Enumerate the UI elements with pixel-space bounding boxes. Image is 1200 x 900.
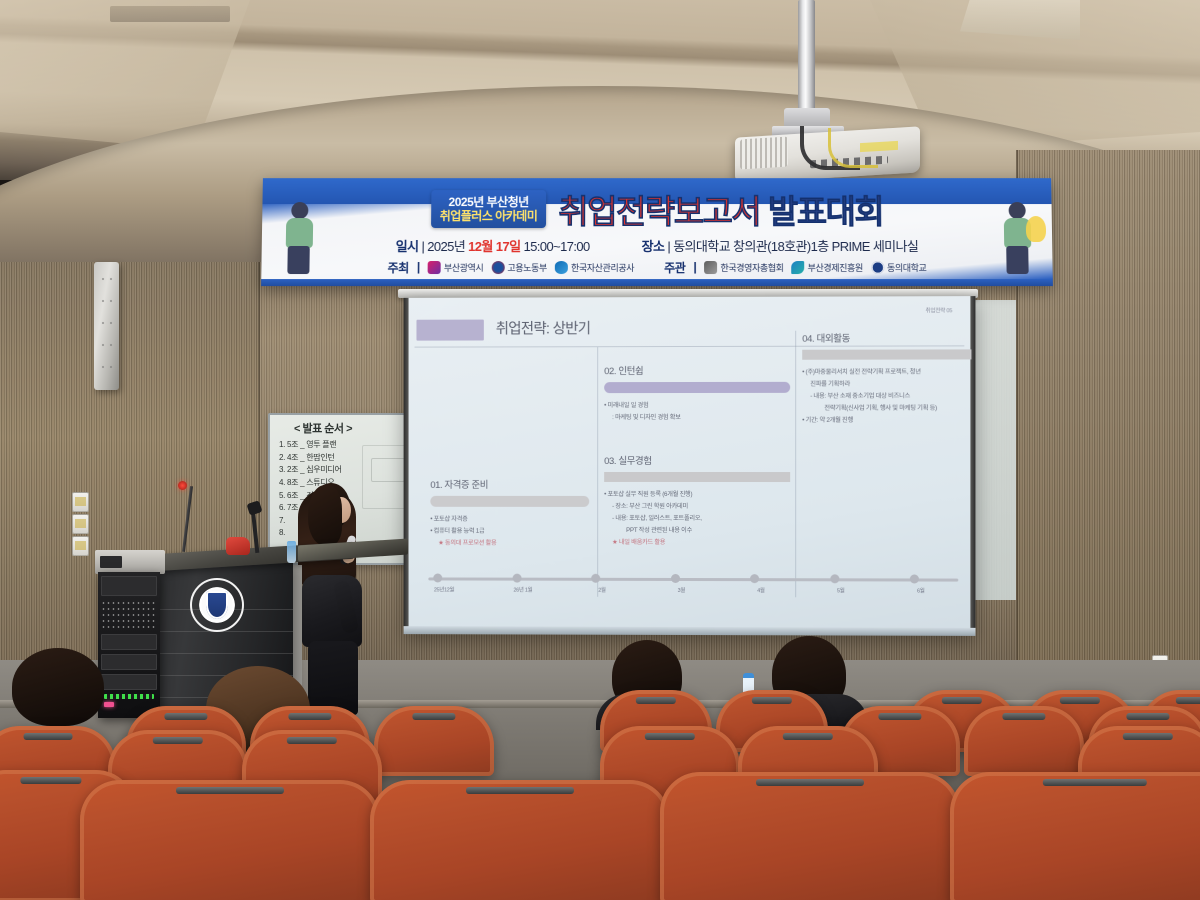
banner-datetime-year: 2025년 [427, 238, 465, 253]
section-line-star: ★ 동의대 프로모션 활용 [430, 538, 589, 550]
banner-organizer-sep: | [693, 260, 696, 274]
section-accent-bar [802, 349, 971, 359]
banner-badge-line1: 2025년 부산청년 [440, 195, 538, 209]
organizer-dongeui: 동의대학교 [871, 261, 927, 274]
banner-venue-value: 동의대학교 창의관(18호관)1층 PRIME 세미나실 [673, 238, 918, 253]
av-unit-3[interactable] [101, 654, 157, 670]
banner-datetime-label: 일시 [396, 238, 419, 253]
wall-speaker-icon [94, 262, 119, 390]
presenter-hair-front [308, 485, 342, 545]
whiteboard-item: 3. 2조 _ 심우미디어 [279, 464, 342, 477]
timeline-point [910, 574, 919, 583]
section-accent-bar [430, 496, 589, 507]
banner-venue-sep: | [667, 238, 670, 253]
seat[interactable] [374, 706, 494, 776]
organizer-label: 동의대학교 [887, 261, 927, 274]
banner-badge: 2025년 부산청년 취업플러스 아카데미 [431, 190, 547, 228]
seat[interactable] [950, 772, 1200, 900]
timeline-label: 3월 [678, 586, 685, 594]
av-mixer[interactable] [101, 600, 157, 630]
banner-organizer-group: 주관 | 한국경영자총협회 부산경제진흥원 동의대학교 [664, 259, 926, 276]
organizer-label: 부산경제진흥원 [808, 261, 863, 274]
section-line: - 장소: 부산 그린 학원 아카데미 [604, 501, 790, 513]
section-body: 포토샵 자격증 컴퓨터 활용 능력 1급 ★ 동의대 프로모션 활용 [430, 514, 589, 550]
banner-datetime-sep: | [421, 238, 424, 253]
bepa-logo-icon [792, 261, 805, 274]
dongeui-logo-icon [871, 261, 884, 274]
molab-logo-icon [491, 261, 504, 274]
banner-main-title: 취업전략보고서 발표대회 [558, 185, 883, 233]
slide-content: 취업전략 05 취업전략: 상반기 01. 자격증 준비 포토샵 자격증 컴퓨터… [409, 300, 971, 628]
sponsor-kamco: 한국자산관리공사 [555, 261, 634, 274]
section-line: (주)마중물리서치 실전 전략기획 프로젝트, 청년 [802, 369, 920, 376]
timeline-point [512, 574, 521, 583]
section-accent-bar [604, 382, 790, 393]
section-heading: 03. 실무경험 [604, 453, 790, 467]
banner-host-group: 주최 | 부산광역시 고용노동부 한국자산관리공사 [387, 259, 634, 276]
timeline-label: 25년12월 [434, 585, 454, 593]
projector-mount-pole [798, 0, 815, 118]
slide-page-mark: 취업전략 05 [925, 306, 952, 314]
section-line-star: ★ 내일 배움카드 활용 [604, 537, 790, 549]
section-line: PPT 작성 관련된 내용 이수 [604, 525, 790, 537]
timeline-point [434, 573, 443, 582]
banner-title-navy: 발표대회 [768, 193, 884, 230]
av-equipment-rack [98, 572, 160, 718]
projector-vent [740, 137, 788, 170]
sponsor-molab: 고용노동부 [491, 261, 547, 274]
banner-datetime: 일시 | 2025년 12월 17일 15:00~17:00 [396, 235, 590, 254]
banner-datetime-date: 12월 17일 [468, 238, 520, 253]
projector-cable-yellow [828, 128, 878, 168]
section-line: 기간: 약 2개월 진행 [802, 417, 853, 424]
sponsor-label: 한국자산관리공사 [571, 261, 634, 274]
wall-switch-2[interactable] [72, 514, 89, 534]
av-led-strip [104, 694, 154, 699]
timeline-point [830, 574, 839, 583]
banner-datetime-time: 15:00~17:00 [523, 238, 589, 253]
seat[interactable] [964, 706, 1084, 776]
slide-section-01: 01. 자격증 준비 포토샵 자격증 컴퓨터 활용 능력 1급 ★ 동의대 프로… [430, 477, 589, 550]
organizer-bepa: 부산경제진흥원 [792, 261, 863, 274]
banner-badge-line2: 취업플러스 아카데미 [440, 209, 538, 223]
wall-switch-1[interactable] [72, 492, 89, 512]
banner-bottom-band [261, 279, 1053, 286]
sponsor-label: 부산광역시 [444, 261, 484, 274]
section-body: (주)마중물리서치 실전 전략기획 프로젝트, 청년 진파를 기획하라 - 내용… [802, 366, 971, 427]
timeline-axis [428, 577, 958, 581]
crest-shield-icon [206, 591, 228, 619]
section-line: 포토샵 자격증 [430, 516, 467, 523]
section-heading: 02. 인턴쉽 [604, 363, 790, 377]
seat[interactable] [660, 772, 960, 900]
seat[interactable] [370, 780, 670, 900]
section-line: : 마케팅 및 디자인 경험 확보 [604, 412, 790, 424]
timeline-label: 5월 [837, 586, 845, 594]
av-unit-2[interactable] [101, 634, 157, 650]
presenter [296, 483, 380, 713]
podium-object-red [226, 537, 250, 555]
organizer-kef: 한국경영자총협회 [704, 261, 783, 274]
organizer-label: 한국경영자총협회 [720, 261, 783, 274]
av-unit-1[interactable] [101, 576, 157, 596]
university-crest-podium [190, 578, 244, 632]
av-top-unit [95, 550, 165, 574]
auditorium-scene: 2025년 부산청년 취업플러스 아카데미 취업전략보고서 발표대회 일시 | … [0, 0, 1200, 900]
audience-head [12, 648, 104, 726]
projection-screen: 취업전략 05 취업전략: 상반기 01. 자격증 준비 포토샵 자격증 컴퓨터… [404, 296, 976, 636]
event-banner: 2025년 부산청년 취업플러스 아카데미 취업전략보고서 발표대회 일시 | … [261, 178, 1053, 286]
section-line: 전략기획(신사업 기획, 행사 및 마케팅 기획 등) [802, 403, 971, 415]
slide-column-divider-2 [795, 331, 796, 598]
section-line: 진파를 기획하라 [802, 379, 971, 391]
section-accent-bar [604, 472, 790, 482]
seat[interactable] [80, 780, 380, 900]
section-line: 컴퓨터 활용 능력 1급 [430, 528, 484, 535]
banner-info-row: 일시 | 2025년 12월 17일 15:00~17:00 장소 | 동의대학… [262, 234, 1053, 256]
busan-city-logo-icon [428, 261, 441, 274]
banner-title-row: 2025년 부산청년 취업플러스 아카데미 취업전략보고서 발표대회 [262, 186, 1052, 232]
whiteboard-title: < 발표 순서 > [294, 420, 352, 436]
wall-switch-3[interactable] [72, 536, 89, 556]
banner-title-red: 취업전략보고서 [558, 193, 760, 230]
slide-section-03: 03. 실무경험 포토샵 실무 직원 등록 (6개월 진행) - 장소: 부산 … [604, 453, 790, 550]
av-unit-4[interactable] [101, 674, 157, 690]
presenter-legs [308, 641, 358, 715]
slide-title: 취업전략: 상반기 [496, 317, 591, 338]
ceiling-vent [110, 6, 230, 22]
section-heading: 04. 대외활동 [802, 330, 971, 344]
mic-indicator-light-icon [178, 481, 187, 490]
section-line: - 내용: 포토샵, 일러스트, 포트폴리오, [604, 513, 790, 525]
slide-title-chip [416, 320, 483, 341]
section-line: 포토샵 실무 직원 등록 (6개월 진행) [604, 491, 692, 498]
banner-organizer-label: 주관 [664, 259, 685, 276]
timeline-point [750, 574, 759, 583]
section-line: 미래내일 일 경험 [604, 402, 648, 409]
section-heading: 01. 자격증 준비 [430, 477, 589, 491]
av-power-led-icon [104, 702, 114, 707]
whiteboard-item: 1. 5조 _ 영투 플랜 [279, 439, 342, 452]
section-body: 미래내일 일 경험 : 마케팅 및 디자인 경험 확보 [604, 400, 790, 424]
water-bottle-podium [287, 541, 296, 563]
whiteboard-item: 2. 4조 _ 한땀인턴 [279, 452, 342, 465]
timeline-point [671, 574, 680, 583]
banner-venue-label: 장소 [642, 238, 665, 253]
kamco-logo-icon [555, 261, 568, 274]
timeline-label: 2월 [598, 586, 605, 594]
banner-venue: 장소 | 동의대학교 창의관(18호관)1층 PRIME 세미나실 [642, 235, 919, 254]
banner-sponsor-row: 주최 | 부산광역시 고용노동부 한국자산관리공사 주관 | [261, 256, 1053, 278]
sponsor-label: 고용노동부 [507, 261, 547, 274]
slide-section-04: 04. 대외활동 (주)마중물리서치 실전 전략기획 프로젝트, 청년 진파를 … [802, 330, 971, 427]
section-line: - 내용: 부산 소재 중소기업 대상 비즈니스 [802, 391, 971, 403]
section-body: 포토샵 실무 직원 등록 (6개월 진행) - 장소: 부산 그린 학원 아카데… [604, 489, 790, 550]
banner-host-sep: | [417, 260, 420, 274]
banner-host-label: 주최 [387, 259, 409, 276]
sponsor-busan-city: 부산광역시 [428, 261, 484, 274]
timeline-label: 4월 [757, 586, 764, 594]
slide-timeline: 25년12월 26년 1월 2월 3월 4월 5월 6월 [428, 572, 958, 597]
timeline-label: 26년 1월 [514, 586, 533, 594]
kef-logo-icon [704, 261, 717, 274]
slide-section-02: 02. 인턴쉽 미래내일 일 경험 : 마케팅 및 디자인 경험 확보 [604, 363, 790, 424]
timeline-label: 6월 [917, 587, 925, 595]
timeline-point [592, 574, 601, 583]
slide-column-divider-1 [597, 347, 598, 597]
